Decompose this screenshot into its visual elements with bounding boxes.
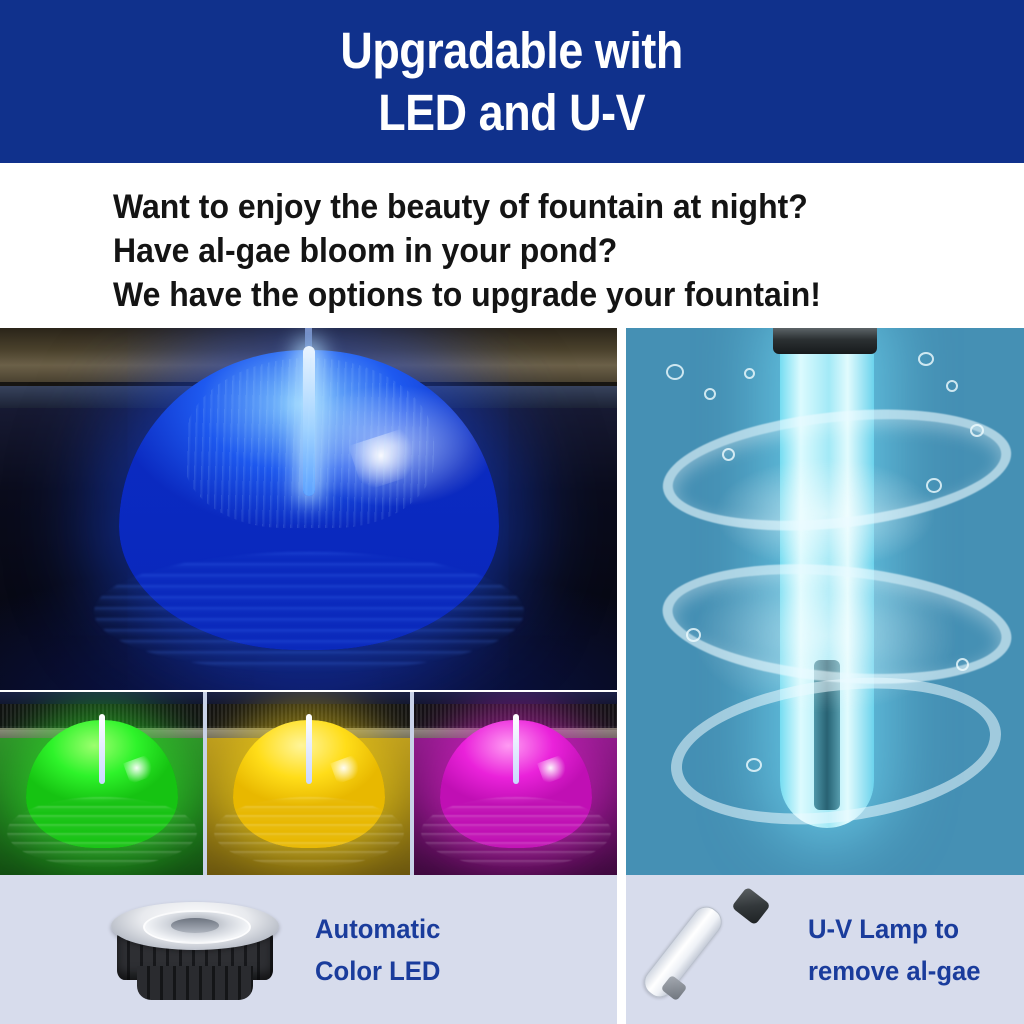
bubble-icon <box>918 352 934 366</box>
uv-lamp-tube-icon <box>648 887 798 1012</box>
water-splash-swirl <box>640 398 1010 728</box>
thumbnail-yellow-dome <box>207 692 410 875</box>
photo-grid <box>0 328 1024 875</box>
led-photo-column <box>0 328 617 875</box>
header-title-line-2: LED and U-V <box>379 82 646 144</box>
bubble-icon <box>722 448 735 461</box>
bubble-icon <box>970 424 984 437</box>
water-ripple <box>94 552 524 672</box>
led-caption-line-1: Automatic <box>315 908 440 950</box>
bubble-icon <box>746 758 762 772</box>
uv-lamp-photo <box>626 328 1024 875</box>
uv-caption-line-2: remove al-gae <box>808 950 981 992</box>
water-spray <box>184 358 434 528</box>
uv-tube-cap <box>773 328 877 354</box>
led-puck-light-icon <box>95 896 295 1004</box>
subheadline-line-3: We have the options to upgrade your foun… <box>113 273 969 317</box>
puck-base <box>137 966 253 1000</box>
blue-fountain-photo <box>0 328 617 690</box>
splash-band <box>658 551 1017 697</box>
uv-caption-line-1: U-V Lamp to <box>808 908 981 950</box>
thumb-ripple <box>7 797 197 867</box>
color-thumbnail-row <box>0 692 617 875</box>
bubble-icon <box>744 368 755 379</box>
splash-band <box>657 394 1017 546</box>
subheadline-line-1: Want to enjoy the beauty of fountain at … <box>113 185 969 229</box>
subheadline-block: Want to enjoy the beauty of fountain at … <box>0 163 1024 325</box>
caption-row: Automatic Color LED U-V Lamp to remove a… <box>0 875 1024 1024</box>
bubble-icon <box>956 658 969 671</box>
thumbnail-green-dome <box>0 692 203 875</box>
bubble-icon <box>704 388 716 400</box>
thumb-ripple <box>421 797 611 867</box>
led-caption-text: Automatic Color LED <box>295 908 447 992</box>
product-infographic: Upgradable with LED and U-V Want to enjo… <box>0 0 1024 1024</box>
header-title-line-1: Upgradable with <box>341 20 683 82</box>
puck-lens-core <box>171 918 219 933</box>
thumb-ripple <box>214 797 404 867</box>
thumbnail-magenta-dome <box>414 692 617 875</box>
header-banner: Upgradable with LED and U-V <box>0 0 1024 165</box>
lamp-end-cap <box>731 887 771 926</box>
bubble-icon <box>666 364 684 380</box>
led-caption-panel: Automatic Color LED <box>0 875 617 1024</box>
uv-caption-text: U-V Lamp to remove al-gae <box>798 908 990 992</box>
bubble-icon <box>686 628 701 642</box>
subheadline-line-2: Have al-gae bloom in your pond? <box>113 229 969 273</box>
bubble-icon <box>926 478 942 493</box>
uv-caption-panel: U-V Lamp to remove al-gae <box>626 875 1024 1024</box>
bubble-icon <box>946 380 958 392</box>
led-caption-line-2: Color LED <box>315 950 440 992</box>
